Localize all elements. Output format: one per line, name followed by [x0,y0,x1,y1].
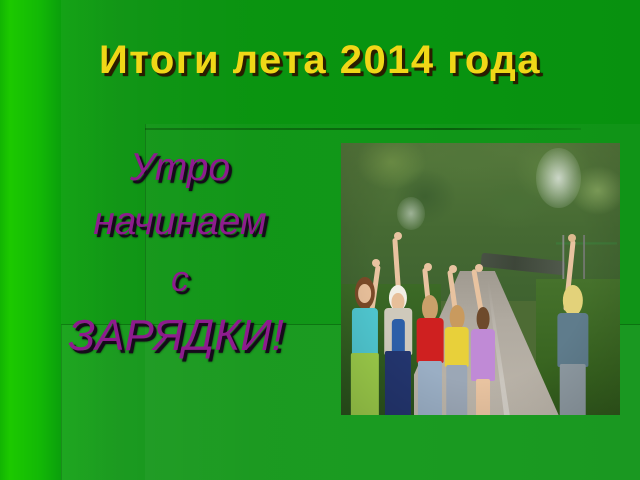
photo-child-6 [553,274,592,415]
presentation-slide: Итоги лета 2014 года Утро начинаем с ЗАР… [0,0,640,480]
photo-child-5 [469,295,497,415]
photo-sky-gap [536,148,581,208]
body-line-2: начинаем [30,194,330,250]
body-line-4: ЗАРЯДКИ! [22,308,330,364]
photo-child-1 [347,268,383,415]
photo-child-4 [441,290,472,415]
body-line-1: Утро [30,142,330,194]
photo-playground-equipment [556,235,617,279]
title-divider-line [145,128,581,130]
body-line-3: с [30,250,330,308]
slide-photo [341,143,620,415]
photo-sky-gap-secondary [397,197,425,230]
slide-body-text: Утро начинаем с ЗАРЯДКИ! [30,142,330,364]
slide-title: Итоги лета 2014 года [0,38,640,83]
photo-child-2 [380,260,416,415]
